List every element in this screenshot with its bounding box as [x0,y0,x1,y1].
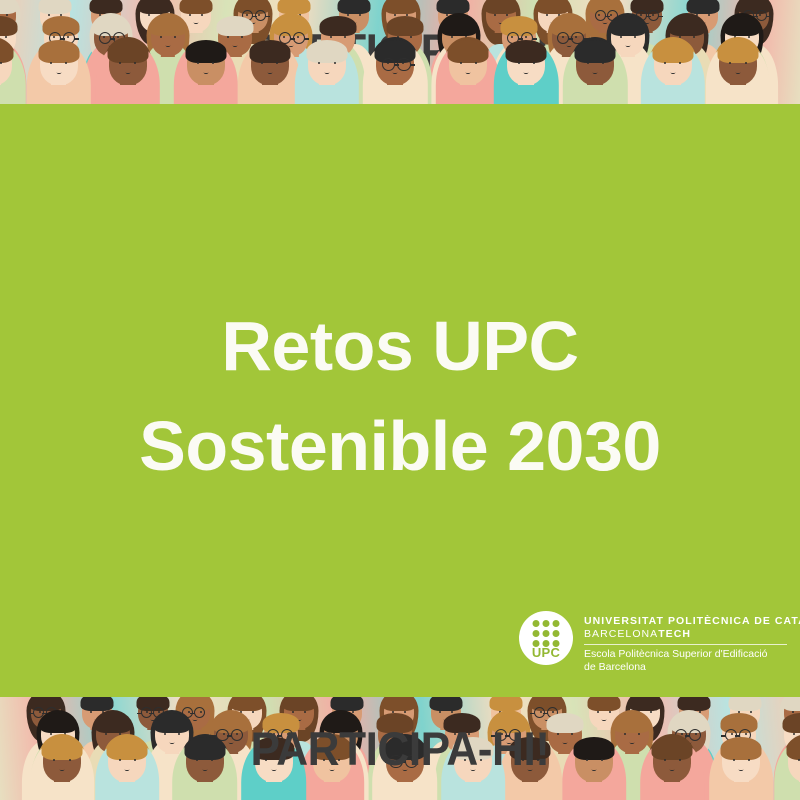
crowd-person-eye [748,36,750,38]
crowd-person-glasses-icon [397,58,410,71]
crowd-person-eye [227,36,229,38]
crowd-person-eye [693,36,695,38]
crowd-person-eye [587,62,589,64]
crowd-person-hair [230,697,263,711]
crowd-person [171,40,241,104]
crowd-person-hair [687,0,720,14]
crowd-person-hair [669,16,706,36]
crowd-person-hair [587,697,620,711]
crowd-person-hair [278,0,311,14]
crowd-person-hair [782,713,800,733]
upc-brand-bold: TECH [658,628,691,640]
crowd-person-hair [93,16,130,36]
crowd-illustration [0,0,800,104]
crowd-person-eye [597,711,599,713]
upc-wordmark: UNIVERSITAT POLITÈCNICA DE CATALUNYA BAR… [584,611,800,673]
crowd-person-mouth [203,71,208,75]
crowd-person-eye [793,733,795,735]
crowd-person-eye [620,36,622,38]
crowd-person-mouth [735,71,740,75]
crowd-person-mouth [524,71,529,75]
crowd-person-hair [320,16,357,36]
crowd-person-hair [537,0,570,14]
crowd-person-hair [441,16,478,36]
upc-university-line: UNIVERSITAT POLITÈCNICA DE CATALUNYA [584,615,800,628]
crowd-person-hair [273,16,310,36]
crowd-person-hair [575,40,616,63]
upc-school-line-1: Escola Politècnica Superior d'Edificació [584,648,800,661]
crowd-person-eye [602,62,604,64]
page-title-line-1: Retos UPC [0,296,800,396]
crowd-person-eye [160,36,162,38]
crowd-person-hair [337,0,370,14]
crowd-person-hair [609,16,646,36]
crowd-person-hair [436,0,469,14]
upc-logo-divider [584,644,787,645]
crowd-person-hair [0,40,14,63]
crowd-person-mouth [125,71,130,75]
upc-dot-grid-icon [533,620,560,647]
crowd-person-hair [107,40,148,63]
crowd-person-eye [174,36,176,38]
crowd-person [93,40,163,104]
crowd-person-hair [185,40,226,63]
crowd-person-hair [0,0,18,14]
crowd-person-mouth [165,44,170,48]
crowd-person-hair [384,0,417,14]
crowd-person-eye [460,62,462,64]
crowd-person-mouth [325,71,330,75]
crowd-person-hair [307,40,348,63]
upc-logo-mark-icon: UPC [519,611,573,665]
crowd-person [703,40,773,104]
crowd-person-hair [139,0,172,14]
crowd-person-hair [430,697,463,711]
crowd-person-hair [0,16,18,36]
crowd-person [360,40,430,104]
crowd-person [24,40,94,104]
crowd-person-hair [375,40,416,63]
page-title-line-2: Sostenible 2030 [0,396,800,496]
crowd-person-glasses-icon [382,58,395,71]
main-stage: Retos UPC Sostenible 2030 [0,104,800,697]
crowd-person-eye [0,62,2,64]
banner-headline-bottom: PARTICIPA-HI! [24,725,776,772]
upc-school-name: Escola Politècnica Superior d'Edificació… [584,648,800,673]
upc-mark-label: UPC [519,646,573,659]
crowd-person-hair [729,697,762,711]
crowd-person-hair [331,697,364,711]
crowd-person-eye [50,62,52,64]
crowd-person-mouth [466,71,471,75]
crowd-person [292,40,362,104]
upc-brand-regular: BARCELONA [584,628,658,640]
crowd-person-hair [786,737,800,760]
crowd-person-hair [180,0,213,14]
upc-logo: UPC UNIVERSITAT POLITÈCNICA DE CATALUNYA… [519,611,800,673]
upc-school-line-2: de Barcelona [584,661,800,674]
crowd-person-mouth [393,71,398,75]
crowd-person-eye [533,62,535,64]
crowd-person-mouth [56,71,61,75]
crowd-person-hair [149,16,186,36]
crowd-person-hair [485,0,518,14]
crowd-person-mouth [267,71,272,75]
crowd-person-mouth [593,71,598,75]
crowd-person [491,40,561,104]
crowd-person [560,40,630,104]
crowd-person-hair [652,40,693,63]
upc-brand-line: BARCELONATECH [584,628,800,641]
crowd-person-eye [745,62,747,64]
top-crowd-banner: PARTICIPA-HI! [0,0,800,104]
poster: PARTICIPA-HI! Retos UPC Sostenible 2030 … [0,0,800,800]
crowd-person-hair [500,16,537,36]
crowd-person-hair [677,697,710,711]
crowd-person-hair [38,40,79,63]
crowd-person-hair [90,0,123,14]
crowd-person-hair [80,697,113,711]
crowd-person-hair [782,697,800,711]
crowd-person-hair [38,0,71,14]
crowd-person-eye [634,36,636,38]
crowd-person-eye [119,62,121,64]
crowd-person-eye [664,62,666,64]
crowd-person-eye [334,62,336,64]
crowd-person-hair [717,40,758,63]
page-title: Retos UPC Sostenible 2030 [0,296,800,496]
crowd-person-mouth [670,71,675,75]
crowd-person-eye [241,36,243,38]
crowd-person-hair [448,40,489,63]
crowd-person-hair [506,40,547,63]
crowd-person-eye [65,62,67,64]
crowd-person-hair [249,40,290,63]
crowd-person-eye [518,62,520,64]
crowd-person-hair [489,697,522,711]
crowd-person [638,40,708,104]
crowd-person-hair [43,16,80,36]
crowd-person-hair [386,16,423,36]
crowd-person-hair [216,16,253,36]
crowd-person-hair [723,16,760,36]
bottom-crowd-banner: PARTICIPA-HI! [0,697,800,800]
crowd-person-hair [383,697,416,711]
crowd-person-hair [628,697,661,711]
crowd-person-hair [282,697,315,711]
crowd-person-eye [344,36,346,38]
crowd-person-eye [475,62,477,64]
crowd-person-eye [5,36,7,38]
